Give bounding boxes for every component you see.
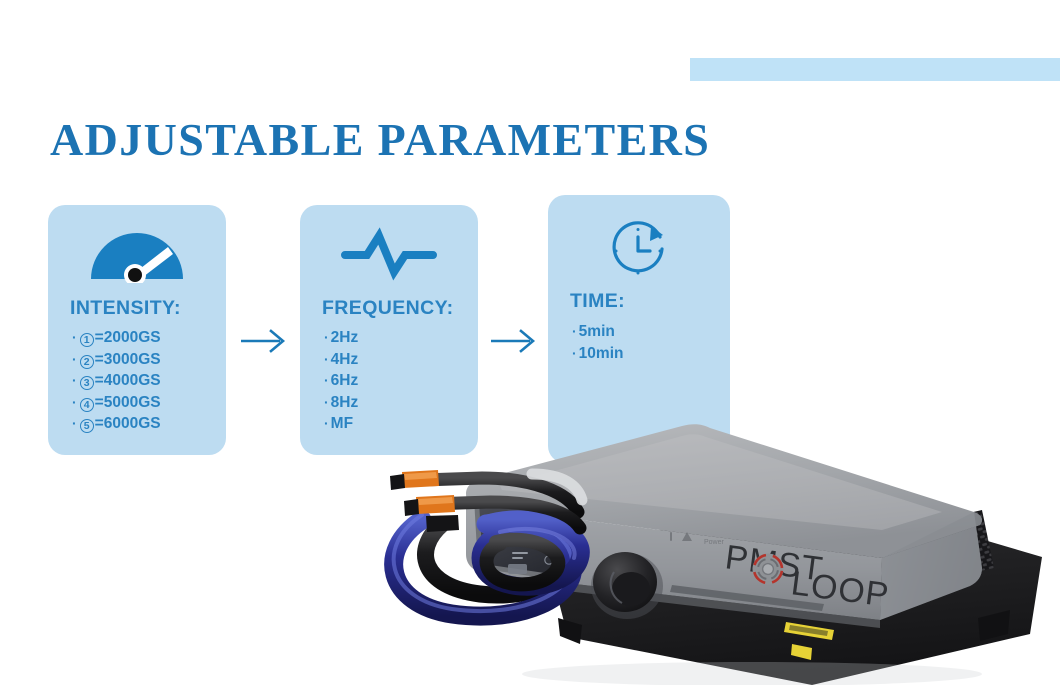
list-item: · 5min xyxy=(572,321,623,343)
badge-number: 4 xyxy=(80,398,94,412)
list-item-label: MF xyxy=(331,413,353,435)
cable-connector xyxy=(404,495,455,516)
cable-connector xyxy=(426,515,459,532)
time-list: · 5min · 10min xyxy=(572,321,623,364)
card-heading: FREQUENCY: xyxy=(322,297,453,320)
bullet: · xyxy=(72,327,77,349)
cable-connector xyxy=(390,470,439,490)
arrow-right-icon xyxy=(490,328,538,359)
list-item-label: 2Hz xyxy=(331,327,359,349)
parameter-card-intensity[interactable]: INTENSITY: · 1 =2000GS · 2 =3000GS · 3 =… xyxy=(48,205,226,455)
bullet: · xyxy=(72,370,77,392)
badge-number: 5 xyxy=(80,419,94,433)
list-item-label: =3000GS xyxy=(95,349,161,371)
list-item: · 10min xyxy=(572,343,623,365)
frequency-list: · 2Hz · 4Hz · 6Hz · 8Hz · MF xyxy=(324,327,358,435)
bullet: · xyxy=(72,349,77,371)
bullet: · xyxy=(324,413,329,435)
bullet: · xyxy=(324,392,329,414)
page-title: ADJUSTABLE PARAMETERS xyxy=(50,113,710,166)
svg-text:Power: Power xyxy=(704,539,725,546)
list-item: · 5 =6000GS xyxy=(72,413,161,435)
intensity-list: · 1 =2000GS · 2 =3000GS · 3 =4000GS · 4 … xyxy=(72,327,161,435)
bullet: · xyxy=(572,343,577,365)
accent-bar xyxy=(690,58,1060,81)
card-heading: TIME: xyxy=(570,290,625,313)
list-item: · 6Hz xyxy=(324,370,358,392)
badge-number: 3 xyxy=(80,376,94,390)
pmst-loop-machine: Power PMST LOOP xyxy=(382,382,1060,685)
bullet: · xyxy=(72,392,77,414)
list-item-label: 5min xyxy=(579,321,615,343)
list-item-label: =5000GS xyxy=(95,392,161,414)
list-item: · 2 =3000GS xyxy=(72,349,161,371)
badge-number: 2 xyxy=(80,355,94,369)
slide-canvas: ADJUSTABLE PARAMETERS INTENSITY: · 1 =20… xyxy=(0,0,1060,685)
pulse-wave-icon xyxy=(300,223,478,285)
bullet: · xyxy=(324,349,329,371)
list-item-label: 8Hz xyxy=(331,392,359,414)
bullet: · xyxy=(324,327,329,349)
list-item: · 3 =4000GS xyxy=(72,370,161,392)
bullet: · xyxy=(324,370,329,392)
list-item-label: =2000GS xyxy=(95,327,161,349)
badge-number: 1 xyxy=(80,333,94,347)
list-item: · 8Hz xyxy=(324,392,358,414)
list-item: · 4 =5000GS xyxy=(72,392,161,414)
list-item: · 1 =2000GS xyxy=(72,327,161,349)
card-heading: INTENSITY: xyxy=(70,297,181,320)
bullet: · xyxy=(572,321,577,343)
list-item-label: 6Hz xyxy=(331,370,359,392)
list-item: · MF xyxy=(324,413,358,435)
arrow-right-icon xyxy=(240,328,288,359)
bullet: · xyxy=(72,413,77,435)
list-item: · 4Hz xyxy=(324,349,358,371)
list-item-label: 10min xyxy=(579,343,624,365)
list-item-label: 4Hz xyxy=(331,349,359,371)
gauge-icon xyxy=(48,223,226,285)
list-item-label: =6000GS xyxy=(95,413,161,435)
list-item-label: =4000GS xyxy=(95,370,161,392)
list-item: · 2Hz xyxy=(324,327,358,349)
clock-refresh-icon xyxy=(548,219,730,281)
